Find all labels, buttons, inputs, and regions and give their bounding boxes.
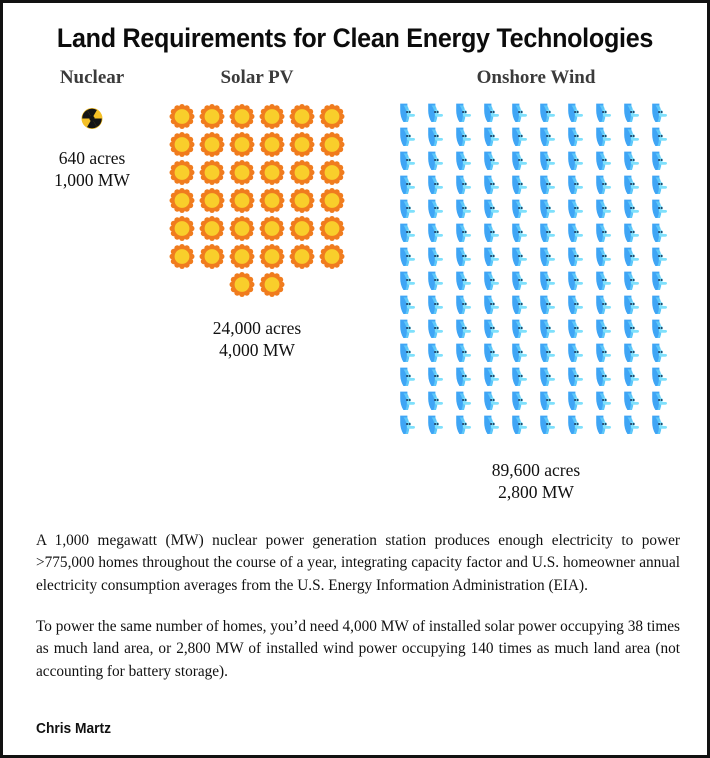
wind-turbine-icon [508,101,536,125]
wind-turbine-icon [536,149,564,173]
infographic-card: Land Requirements for Clean Energy Techn… [0,0,710,758]
wind-turbine-icon [592,269,620,293]
wind-turbine-icon [648,293,676,317]
wind-turbine-icon [620,197,648,221]
wind-turbine-icon [564,149,592,173]
wind-turbine-icon [648,173,676,197]
wind-turbine-icon [564,413,592,437]
wind-turbine-icon [648,125,676,149]
wind-turbine-icon [424,341,452,365]
sun-icon [167,243,197,271]
wind-turbine-icon [508,365,536,389]
wind-turbine-icon [508,317,536,341]
wind-turbine-icon [480,269,508,293]
wind-turbine-icon [620,341,648,365]
sun-icon [167,215,197,243]
sun-icon [227,187,257,215]
wind-turbine-icon [536,221,564,245]
wind-turbine-icon [620,317,648,341]
wind-turbine-icon [424,197,452,221]
wind-turbine-icon [452,341,480,365]
sun-icon [197,131,227,159]
wind-turbine-icon [424,365,452,389]
wind-turbine-icon [564,341,592,365]
wind-turbine-icon [620,125,648,149]
wind-turbine-icon [592,413,620,437]
sun-icon [227,215,257,243]
wind-turbine-icon [396,197,424,221]
wind-turbine-icon [648,413,676,437]
wind-turbine-icon [564,197,592,221]
wind-turbine-icon [424,389,452,413]
wind-turbine-icon [564,269,592,293]
wind-turbine-icon [452,245,480,269]
wind-turbine-icon [536,125,564,149]
wind-turbine-icon [508,269,536,293]
wind-turbine-icon [592,293,620,317]
wind-turbine-icon [452,269,480,293]
page-title: Land Requirements for Clean Energy Techn… [28,23,683,54]
sun-icon [287,131,317,159]
wind-turbine-icon [452,125,480,149]
wind-turbine-icon [480,365,508,389]
sun-icon [317,131,347,159]
wind-turbine-icon [396,365,424,389]
wind-turbine-icon [620,101,648,125]
wind-turbine-icon [424,413,452,437]
sun-icon [167,187,197,215]
byline-author: Chris Martz [36,721,111,737]
column-wind: Onshore Wind 89,600 acres 2,800 MW [371,54,701,504]
wind-turbine-icon [396,149,424,173]
stat-solar: 24,000 acres 4,000 MW [161,317,353,362]
technology-columns: Nuclear 640 acres 1 [3,54,707,524]
wind-turbine-icon [508,245,536,269]
wind-turbine-icon [564,365,592,389]
wind-turbine-icon [424,125,452,149]
wind-turbine-icon [480,413,508,437]
wind-turbine-icon [536,197,564,221]
paragraph-nuclear-output: A 1,000 megawatt (MW) nuclear power gene… [36,530,680,597]
wind-turbine-icon [396,125,424,149]
wind-turbine-icon [396,389,424,413]
wind-turbine-icon [508,197,536,221]
wind-turbine-icon [648,149,676,173]
wind-turbine-icon [564,317,592,341]
wind-turbine-icon [396,341,424,365]
sun-icon [227,103,257,131]
wind-turbine-icon [536,389,564,413]
stat-capacity-wind: 2,800 MW [371,481,701,503]
sun-icon [197,243,227,271]
wind-turbine-icon [396,173,424,197]
wind-turbine-icon [536,269,564,293]
wind-turbine-icon [480,173,508,197]
wind-turbine-icon [452,413,480,437]
sun-icon [287,243,317,271]
sun-icon [227,271,257,299]
wind-turbine-icon [480,221,508,245]
wind-turbine-icon [592,173,620,197]
wind-turbine-icon [648,365,676,389]
wind-turbine-icon [564,389,592,413]
wind-turbine-icon [592,221,620,245]
wind-turbine-icon [620,269,648,293]
wind-turbine-icon [592,341,620,365]
wind-turbine-icon [480,389,508,413]
sun-icon [317,243,347,271]
wind-turbine-icon [452,317,480,341]
wind-turbine-icon [452,293,480,317]
wind-turbine-icon [536,317,564,341]
wind-turbine-icon [424,317,452,341]
wind-turbine-icon [592,125,620,149]
stat-acres-nuclear: 640 acres [17,147,167,169]
wind-turbine-icon [452,365,480,389]
wind-turbine-icon [452,173,480,197]
wind-turbine-icon [536,245,564,269]
wind-turbine-icon [396,413,424,437]
stat-nuclear: 640 acres 1,000 MW [17,147,167,192]
sun-icon [167,159,197,187]
wind-turbine-icon [480,317,508,341]
paragraph-comparison: To power the same number of homes, you’d… [36,616,680,683]
stat-capacity-solar: 4,000 MW [161,339,353,361]
sun-icon [167,131,197,159]
wind-turbine-icon [508,149,536,173]
wind-turbine-icon [480,101,508,125]
wind-turbine-icon [536,413,564,437]
wind-turbine-icon [592,365,620,389]
wind-turbine-icon [648,197,676,221]
sun-icon [227,131,257,159]
wind-turbine-icon [396,269,424,293]
wind-turbine-icon [620,173,648,197]
body-copy: A 1,000 megawatt (MW) nuclear power gene… [36,530,680,683]
sun-icon [317,159,347,187]
wind-turbine-icon [592,389,620,413]
wind-turbine-icon [564,173,592,197]
wind-turbine-icon [396,221,424,245]
wind-turbine-icon [424,269,452,293]
wind-turbine-icon [480,245,508,269]
wind-turbine-icon [564,221,592,245]
wind-turbine-icon [424,221,452,245]
sun-icon [317,187,347,215]
wind-turbine-icon [648,245,676,269]
wind-turbine-icon [564,125,592,149]
wind-turbine-icon [508,293,536,317]
sun-icon [287,159,317,187]
wind-turbine-icon [396,101,424,125]
wind-turbine-icon [452,101,480,125]
column-solar: Solar PV 24,000 acres 4,000 MW [161,54,353,362]
wind-turbine-icon [620,149,648,173]
wind-turbine-icon [396,245,424,269]
sun-icon [257,215,287,243]
wind-turbine-icon [508,413,536,437]
wind-turbine-icon [424,173,452,197]
wind-turbine-icon [508,125,536,149]
icon-grid-solar [167,103,347,299]
icon-grid-wind [396,101,677,437]
wind-turbine-icon [508,341,536,365]
wind-turbine-icon [592,317,620,341]
wind-turbine-icon [536,293,564,317]
wind-turbine-icon [452,149,480,173]
wind-turbine-icon [620,389,648,413]
wind-turbine-icon [648,317,676,341]
wind-turbine-icon [592,245,620,269]
wind-turbine-icon [536,101,564,125]
wind-turbine-icon [620,365,648,389]
sun-icon [257,243,287,271]
wind-turbine-icon [564,293,592,317]
sun-icon [317,215,347,243]
wind-turbine-icon [648,269,676,293]
sun-icon [257,131,287,159]
wind-turbine-icon [648,341,676,365]
wind-turbine-icon [424,101,452,125]
wind-turbine-icon [536,365,564,389]
wind-turbine-icon [564,245,592,269]
sun-icon [257,159,287,187]
column-nuclear: Nuclear 640 acres 1 [17,54,167,192]
wind-turbine-icon [480,125,508,149]
wind-turbine-icon [452,197,480,221]
stat-acres-wind: 89,600 acres [371,459,701,481]
wind-turbine-icon [424,245,452,269]
sun-icon [197,159,227,187]
wind-turbine-icon [536,173,564,197]
wind-turbine-icon [620,413,648,437]
wind-turbine-icon [508,221,536,245]
sun-icon [227,159,257,187]
sun-icon [257,103,287,131]
wind-turbine-icon [508,389,536,413]
column-header-solar: Solar PV [161,67,353,89]
icon-grid-nuclear [17,105,167,133]
wind-turbine-icon [424,293,452,317]
radioactive-icon [77,105,107,133]
wind-turbine-icon [396,293,424,317]
wind-turbine-icon [648,101,676,125]
wind-turbine-icon [480,197,508,221]
wind-turbine-icon [396,317,424,341]
wind-turbine-icon [620,245,648,269]
wind-turbine-icon [592,197,620,221]
sun-icon [257,187,287,215]
column-header-wind: Onshore Wind [371,67,701,89]
wind-turbine-icon [592,149,620,173]
wind-turbine-icon [480,341,508,365]
sun-icon [287,215,317,243]
wind-turbine-icon [424,149,452,173]
sun-icon [257,271,287,299]
wind-turbine-icon [592,101,620,125]
stat-wind: 89,600 acres 2,800 MW [371,459,701,504]
wind-turbine-icon [452,221,480,245]
sun-icon [227,243,257,271]
wind-turbine-icon [648,221,676,245]
sun-icon [317,103,347,131]
wind-turbine-icon [620,221,648,245]
wind-turbine-icon [508,173,536,197]
wind-turbine-icon [564,101,592,125]
sun-icon [197,187,227,215]
wind-turbine-icon [452,389,480,413]
wind-turbine-icon [480,293,508,317]
column-header-nuclear: Nuclear [17,67,167,89]
sun-icon [167,103,197,131]
wind-turbine-icon [480,149,508,173]
wind-turbine-icon [536,341,564,365]
sun-icon [287,187,317,215]
stat-capacity-nuclear: 1,000 MW [17,169,167,191]
stat-acres-solar: 24,000 acres [161,317,353,339]
sun-icon [197,215,227,243]
wind-turbine-icon [620,293,648,317]
sun-icon [287,103,317,131]
sun-icon [197,103,227,131]
wind-turbine-icon [648,389,676,413]
